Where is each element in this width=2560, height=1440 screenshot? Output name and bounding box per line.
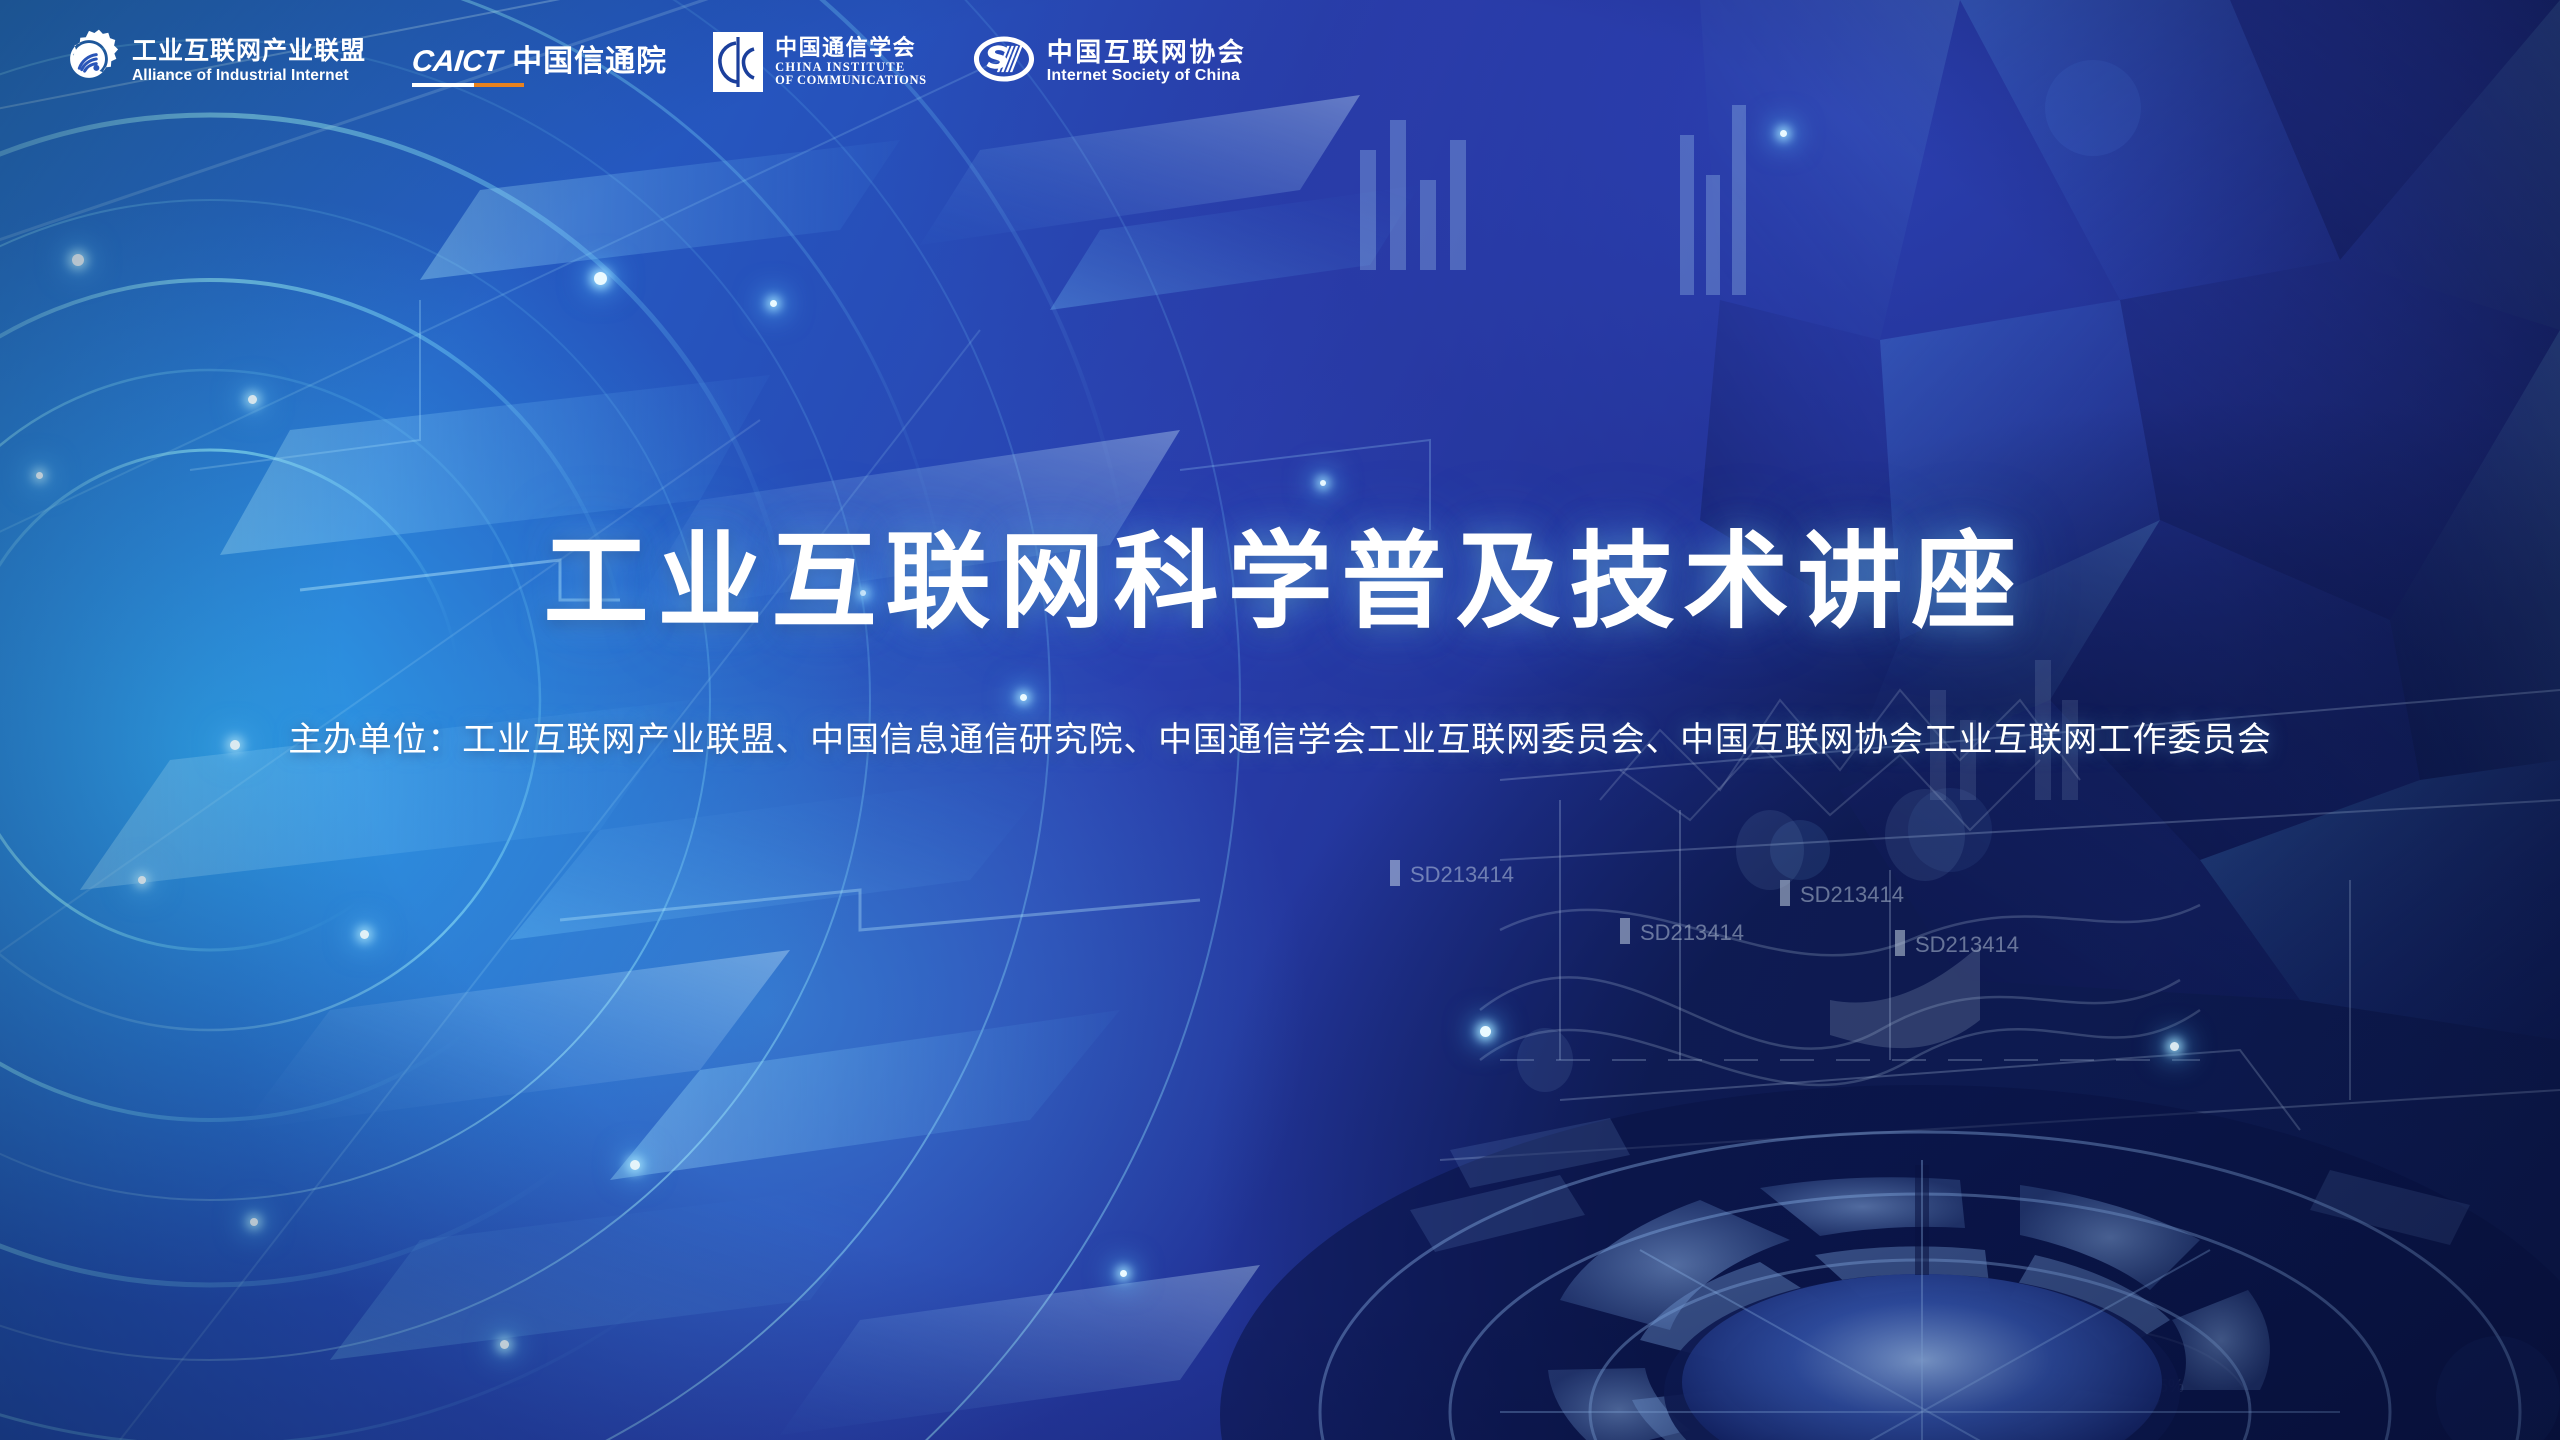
caict-underline-rule [412,83,524,87]
slide-subtitle-organizers: 主办单位：工业互联网产业联盟、中国信息通信研究院、中国通信学会工业互联网委员会、… [0,712,2560,761]
logo-label-en: Alliance of Industrial Internet [132,68,366,84]
hud-label: SD213414 [1410,862,1514,887]
logo-caict: CAICT 中国信通院 [412,36,667,87]
hud-percent-label: 5% [2052,1364,2078,1384]
presentation-slide: SD213414 SD213414 SD213414 SD213414 5% 2… [0,0,2560,1440]
logo-label-cn: 中国信通院 [512,36,667,80]
cic-monogram-icon [713,32,763,92]
logo-china-institute-of-communications: 中国通信学会 CHINA INSTITUTE OF COMMUNICATIONS [713,32,927,92]
logo-label-en: Internet Society of China [1047,68,1247,84]
logo-label-en-line2: OF COMMUNICATIONS [775,74,927,87]
hud-percent-label: 25% [2148,1376,2184,1396]
hud-label: SD213414 [1915,932,2019,957]
hud-label: SD213414 [1640,920,1744,945]
logo-label-cn: 中国互联网协会 [1047,39,1247,66]
logo-acronym: CAICT [410,45,503,79]
logo-alliance-of-industrial-internet: 工业互联网产业联盟 Alliance of Industrial Interne… [58,28,366,95]
logo-label-cn: 工业互联网产业联盟 [132,39,366,65]
sponsor-logo-bar: 工业互联网产业联盟 Alliance of Industrial Interne… [58,28,1246,95]
caict-wordmark-icon: CAICT 中国信通院 [412,36,667,87]
slide-title: 工业互联网科学普及技术讲座 [0,525,2560,641]
logo-label-cn: 中国通信学会 [775,37,927,59]
hud-label: SD213414 [1800,882,1904,907]
isc-circle-icon [973,35,1035,88]
gear-wifi-icon [58,28,120,95]
logo-label-en-line1: CHINA INSTITUTE [775,61,927,74]
logo-internet-society-of-china: 中国互联网协会 Internet Society of China [973,35,1247,88]
